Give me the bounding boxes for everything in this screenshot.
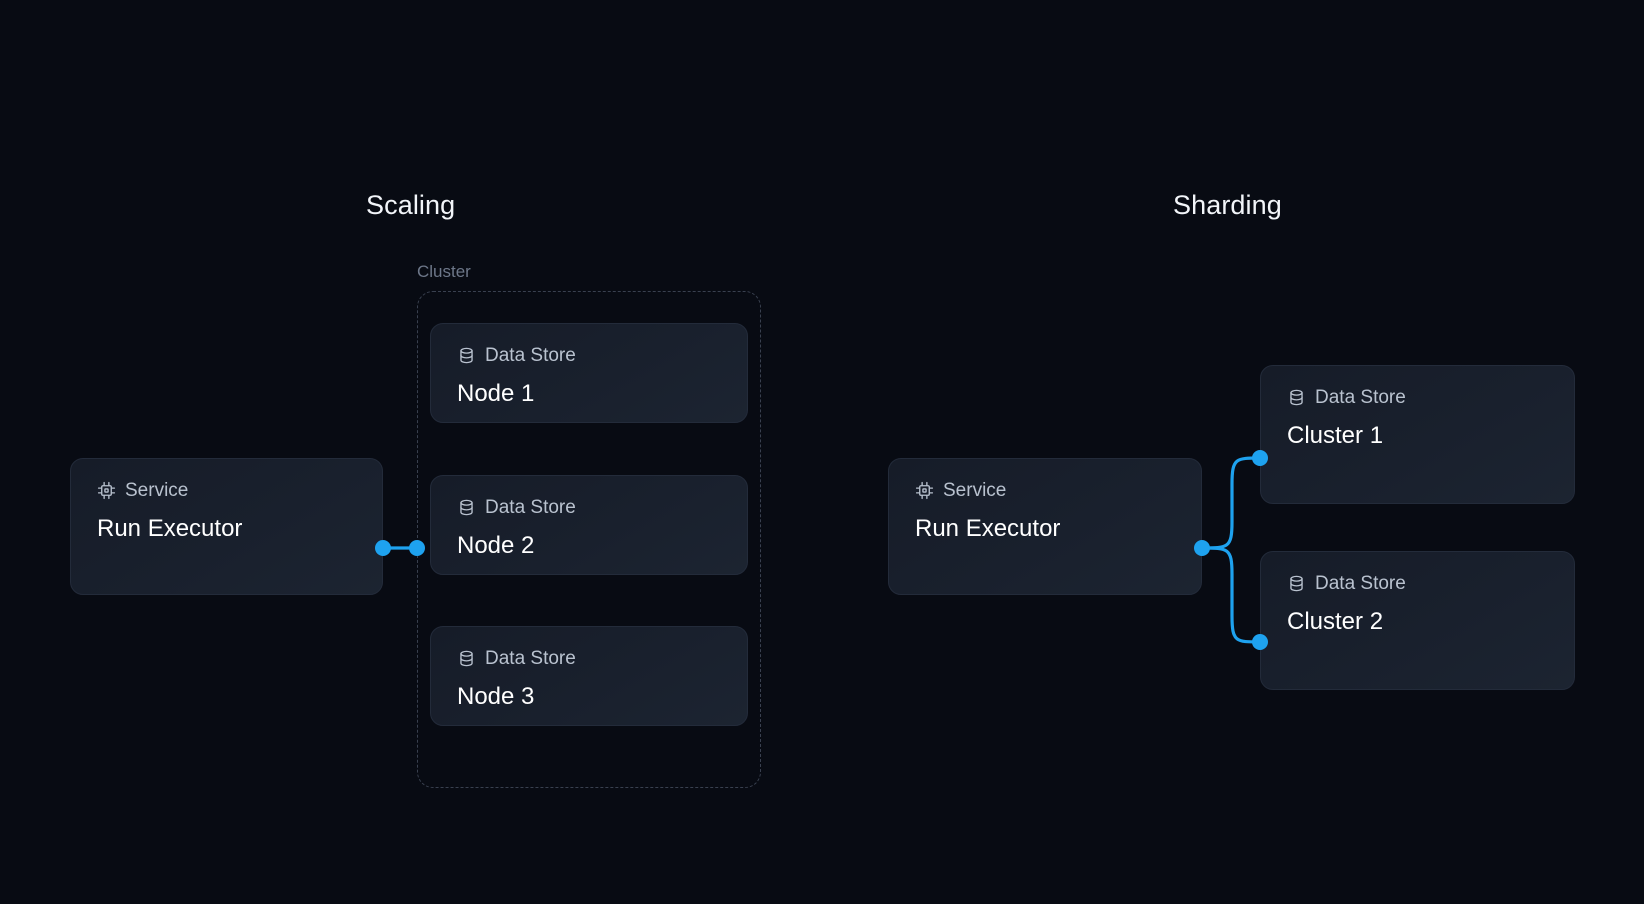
service-card-title: Run Executor (915, 515, 1175, 543)
service-card-run-executor-scaling[interactable]: Service Run Executor (70, 458, 383, 595)
diagram-canvas: Scaling Sharding Cluster Data Store Node… (0, 0, 1644, 904)
shard-card-cluster-2[interactable]: Data Store Cluster 2 (1260, 551, 1575, 690)
shard-card-kind-row: Data Store (1287, 574, 1548, 593)
shard-card-title: Cluster 2 (1287, 608, 1548, 636)
node-card-node-1[interactable]: Data Store Node 1 (430, 323, 748, 423)
node-card-title: Node 1 (457, 380, 721, 408)
shard-card-kind-label: Data Store (1315, 574, 1406, 593)
node-card-title: Node 3 (457, 683, 721, 711)
database-icon (1287, 574, 1306, 593)
service-card-kind-label: Service (943, 481, 1006, 500)
edge-run-executor-to-cluster-1 (1202, 450, 1268, 548)
node-card-kind-label: Data Store (485, 498, 576, 517)
database-icon (1287, 388, 1306, 407)
node-card-kind-label: Data Store (485, 649, 576, 668)
shard-card-kind-row: Data Store (1287, 388, 1548, 407)
cpu-chip-icon (915, 481, 934, 500)
service-card-title: Run Executor (97, 515, 356, 543)
service-card-run-executor-sharding[interactable]: Service Run Executor (888, 458, 1202, 595)
cpu-chip-icon (97, 481, 116, 500)
section-title-scaling: Scaling (366, 190, 455, 221)
service-card-kind-row: Service (915, 481, 1175, 500)
shard-card-title: Cluster 1 (1287, 422, 1548, 450)
node-card-title: Node 2 (457, 532, 721, 560)
service-card-kind-row: Service (97, 481, 356, 500)
database-icon (457, 498, 476, 517)
node-card-kind-row: Data Store (457, 498, 721, 517)
database-icon (457, 346, 476, 365)
shard-card-cluster-1[interactable]: Data Store Cluster 1 (1260, 365, 1575, 504)
node-card-node-3[interactable]: Data Store Node 3 (430, 626, 748, 726)
service-card-kind-label: Service (125, 481, 188, 500)
database-icon (457, 649, 476, 668)
node-card-kind-row: Data Store (457, 346, 721, 365)
node-card-kind-row: Data Store (457, 649, 721, 668)
cluster-group-label: Cluster (417, 262, 471, 282)
edge-run-executor-to-cluster-2 (1202, 548, 1268, 650)
node-card-node-2[interactable]: Data Store Node 2 (430, 475, 748, 575)
section-title-sharding: Sharding (1173, 190, 1282, 221)
node-card-kind-label: Data Store (485, 346, 576, 365)
shard-card-kind-label: Data Store (1315, 388, 1406, 407)
